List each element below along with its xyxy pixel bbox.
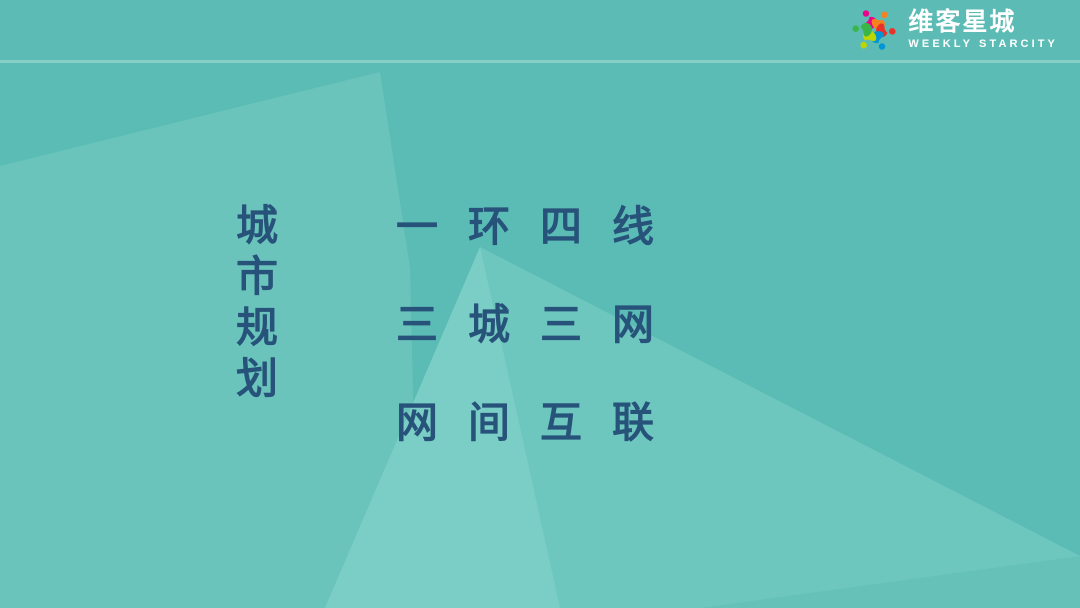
slide-canvas: 城 市 规 划 一环四线 三城三网 网间互联 一、青岛地铁的现状与未来 [0, 0, 1080, 608]
brand-name-en: WEEKLY STARCITY [908, 37, 1058, 52]
phrase-item-1: 一环四线 [396, 196, 684, 258]
slide-body: 城 市 规 划 一环四线 三城三网 网间互联 [0, 0, 1080, 608]
vertical-label-char-3: 规 [236, 302, 278, 353]
vertical-label-char-4: 划 [236, 353, 278, 404]
weekly-starcity-people-circle-logo [849, 5, 899, 55]
vertical-label-char-1: 城 [236, 200, 278, 251]
brand-logo-text: 维客星城 WEEKLY STARCITY [908, 8, 1058, 52]
brand-name-cn: 维客星城 [908, 8, 1058, 37]
vertical-label-city-planning: 城 市 规 划 [226, 200, 288, 404]
brand-logo: 维客星城 WEEKLY STARCITY [849, 4, 1058, 56]
phrase-item-3: 网间互联 [396, 392, 684, 454]
header-divider [0, 60, 1080, 63]
vertical-label-char-2: 市 [236, 251, 278, 302]
phrase-item-2: 三城三网 [396, 294, 684, 356]
phrase-list: 一环四线 三城三网 网间互联 [396, 196, 684, 454]
